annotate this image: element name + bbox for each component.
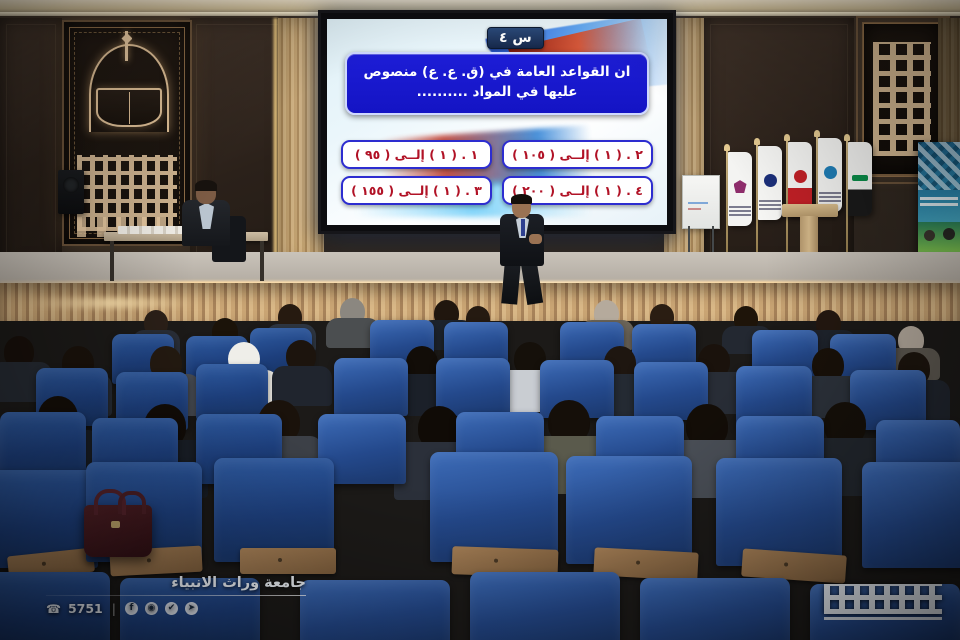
presenter-hands xyxy=(529,234,542,244)
seat[interactable] xyxy=(470,572,620,640)
facebook-glyph: f xyxy=(125,602,138,615)
seat-tablet-arm[interactable] xyxy=(240,548,336,574)
answer-options: ٢ . ( ١ ) إلــى ( ١٠٥ ) ١ . ( ١ ) إلــى … xyxy=(341,140,653,205)
seat[interactable] xyxy=(196,364,268,420)
stage-floor-glow xyxy=(26,298,196,308)
seat[interactable] xyxy=(640,578,790,640)
flag-text-4 xyxy=(819,191,841,202)
answer-option-3: ٣ . ( ١ ) إلــى ( ١٥٥ ) xyxy=(341,176,492,205)
flag-emblem-5 xyxy=(852,175,868,181)
wall-light-left xyxy=(272,18,279,268)
question-number-badge: س ٤ xyxy=(487,27,544,49)
university-name: جامعة وراث الانبياء xyxy=(46,575,306,591)
phone-number: 5751 xyxy=(68,601,103,616)
flag-emblem-2 xyxy=(764,174,777,187)
wall-speaker xyxy=(58,170,84,214)
flag-iraq xyxy=(848,142,872,216)
flag-emblem-1 xyxy=(734,180,747,193)
twitter-glyph: ✔ xyxy=(165,602,178,615)
brand-divider xyxy=(46,595,306,597)
projection-screen: س ٤ ان القواعد العامة في (ق. ع. ع) منصوص… xyxy=(318,10,676,234)
seat[interactable] xyxy=(214,458,334,562)
answer-option-1: ١ . ( ١ ) إلــى ( ٩٥ ) xyxy=(341,140,492,169)
phone-icon: ☎ xyxy=(46,602,61,616)
seat[interactable] xyxy=(862,462,960,568)
telegram-glyph: ➤ xyxy=(185,602,198,615)
handbag xyxy=(84,505,152,557)
whiteboard-mark-1 xyxy=(688,202,708,204)
emblem-open-book xyxy=(96,88,162,127)
table-leg-left xyxy=(110,241,114,281)
seat[interactable] xyxy=(716,458,842,566)
flag-emblem-3 xyxy=(794,170,807,183)
presenter-hair xyxy=(511,194,532,204)
flag-navy xyxy=(758,146,782,220)
whiteboard-mark-2 xyxy=(688,208,701,210)
facebook-icon[interactable]: f xyxy=(125,602,138,615)
question-text: ان القواعد العامة في (ق. ع. ع) منصوص علي… xyxy=(345,52,649,115)
flag-union-pink xyxy=(728,152,752,226)
seat[interactable] xyxy=(566,456,692,564)
wall-panel-dark-left xyxy=(0,18,62,268)
answer-option-2: ٢ . ( ١ ) إلــى ( ١٠٥ ) xyxy=(502,140,653,169)
flag-syndicate xyxy=(818,138,842,212)
telegram-icon[interactable]: ➤ xyxy=(185,602,198,615)
auditorium-photo: س ٤ ان القواعد العامة في (ق. ع. ع) منصوص… xyxy=(0,0,960,640)
flipchart-whiteboard xyxy=(682,175,720,229)
kufic-logo-baseline xyxy=(824,617,942,620)
contact-row: ☎ 5751 | f ◉ ✔ ➤ xyxy=(46,601,306,616)
flag-text-1 xyxy=(729,205,751,216)
slide-content: س ٤ ان القواعد العامة في (ق. ع. ع) منصوص… xyxy=(327,19,667,225)
contact-separator: | xyxy=(112,601,116,616)
instagram-icon[interactable]: ◉ xyxy=(145,602,158,615)
banner-pattern xyxy=(918,142,960,190)
table-leg-right xyxy=(260,241,264,281)
handbag-handle-right xyxy=(118,491,146,514)
flag-text-2 xyxy=(759,199,781,210)
handbag-clasp xyxy=(111,521,120,528)
brand-overlay: جامعة وراث الانبياء ☎ 5751 | f ◉ ✔ ➤ xyxy=(46,575,306,617)
instagram-glyph: ◉ xyxy=(145,602,158,615)
moderator-hair xyxy=(195,180,217,191)
banner-headline xyxy=(920,194,958,206)
seat[interactable] xyxy=(300,580,450,640)
seat[interactable] xyxy=(430,452,558,562)
twitter-icon[interactable]: ✔ xyxy=(165,602,178,615)
kufic-logo xyxy=(824,584,942,614)
emblem-spire xyxy=(125,31,128,61)
emblem-artwork xyxy=(82,38,173,153)
presenter-tie xyxy=(521,219,525,236)
seat[interactable] xyxy=(334,358,408,416)
flag-emblem-4 xyxy=(824,166,837,179)
